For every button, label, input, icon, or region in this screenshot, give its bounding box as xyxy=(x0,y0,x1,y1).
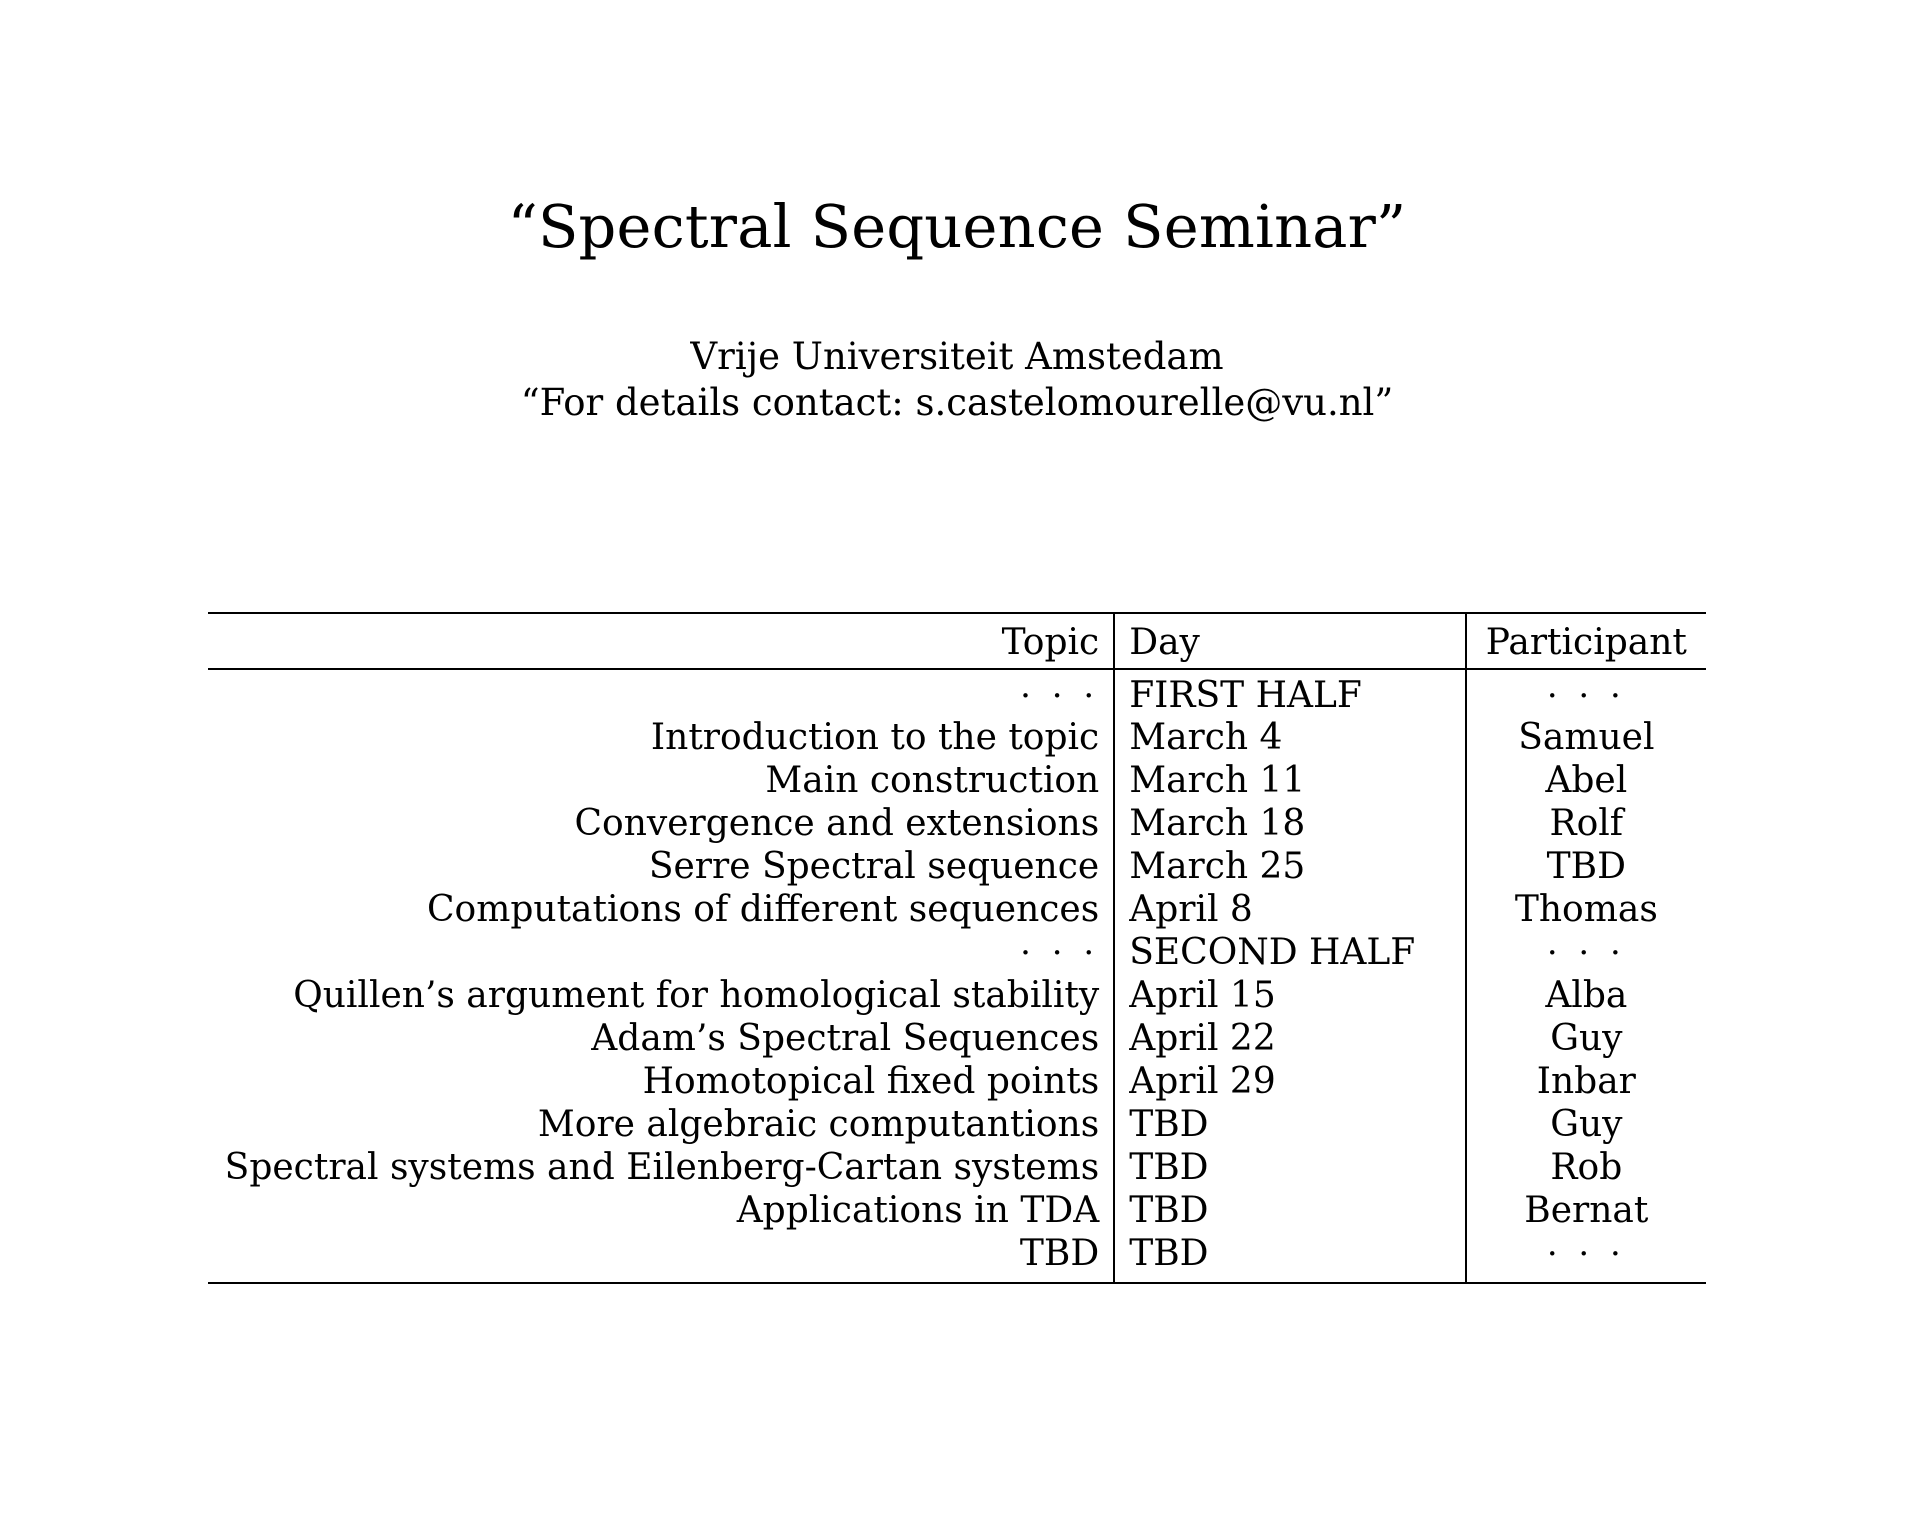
cell-day: TBD xyxy=(1114,1104,1465,1147)
page-title: “Spectral Sequence Seminar” xyxy=(0,196,1914,258)
cell-participant: Inbar xyxy=(1466,1061,1706,1104)
cell-participant: Abel xyxy=(1466,760,1706,803)
cell-participant: · · · xyxy=(1466,932,1706,975)
column-header-participant: Participant xyxy=(1466,613,1706,669)
column-header-topic: Topic xyxy=(208,613,1114,669)
table-row: Applications in TDATBDBernat xyxy=(208,1190,1706,1233)
cell-topic: Introduction to the topic xyxy=(208,717,1114,760)
cell-topic: More algebraic computantions xyxy=(208,1104,1114,1147)
cell-participant: Rob xyxy=(1466,1147,1706,1190)
cell-topic: Applications in TDA xyxy=(208,1190,1114,1233)
cell-topic: Serre Spectral sequence xyxy=(208,846,1114,889)
cell-day: April 22 xyxy=(1114,1018,1465,1061)
table-row: Homotopical fixed pointsApril 29Inbar xyxy=(208,1061,1706,1104)
title-block: “Spectral Sequence Seminar” xyxy=(0,196,1914,258)
cell-topic: Homotopical fixed points xyxy=(208,1061,1114,1104)
cell-topic: Spectral systems and Eilenberg-Cartan sy… xyxy=(208,1147,1114,1190)
cell-day: TBD xyxy=(1114,1190,1465,1233)
schedule-table: Topic Day Participant · · ·FIRST HALF· ·… xyxy=(208,612,1706,1284)
cell-participant: TBD xyxy=(1466,846,1706,889)
cell-participant: Samuel xyxy=(1466,717,1706,760)
cell-day: TBD xyxy=(1114,1147,1465,1190)
document-page: “Spectral Sequence Seminar” Vrije Univer… xyxy=(0,0,1914,1516)
table-row: Quillen’s argument for homological stabi… xyxy=(208,975,1706,1018)
cell-day: April 8 xyxy=(1114,889,1465,932)
cell-day: March 4 xyxy=(1114,717,1465,760)
cell-topic: · · · xyxy=(208,669,1114,717)
table-section-row: · · ·FIRST HALF· · · xyxy=(208,669,1706,717)
cell-day: March 25 xyxy=(1114,846,1465,889)
cell-topic: · · · xyxy=(208,932,1114,975)
cell-participant: Guy xyxy=(1466,1018,1706,1061)
cell-participant: · · · xyxy=(1466,669,1706,717)
cell-day: April 15 xyxy=(1114,975,1465,1018)
cell-day: March 11 xyxy=(1114,760,1465,803)
cell-day: SECOND HALF xyxy=(1114,932,1465,975)
table-section-row: · · ·SECOND HALF· · · xyxy=(208,932,1706,975)
column-header-day: Day xyxy=(1114,613,1465,669)
schedule-table-wrapper: Topic Day Participant · · ·FIRST HALF· ·… xyxy=(208,612,1706,1284)
affiliation-line: Vrije Universiteit Amstedam xyxy=(0,334,1914,380)
cell-participant: Thomas xyxy=(1466,889,1706,932)
table-header-row: Topic Day Participant xyxy=(208,613,1706,669)
cell-topic: Convergence and extensions xyxy=(208,803,1114,846)
table-row: Convergence and extensionsMarch 18Rolf xyxy=(208,803,1706,846)
table-row: Spectral systems and Eilenberg-Cartan sy… xyxy=(208,1147,1706,1190)
cell-participant: Guy xyxy=(1466,1104,1706,1147)
cell-day: March 18 xyxy=(1114,803,1465,846)
table-row: TBDTBD· · · xyxy=(208,1233,1706,1283)
table-header: Topic Day Participant xyxy=(208,613,1706,669)
cell-participant: Rolf xyxy=(1466,803,1706,846)
table-row: Introduction to the topicMarch 4Samuel xyxy=(208,717,1706,760)
cell-topic: Main construction xyxy=(208,760,1114,803)
cell-participant: · · · xyxy=(1466,1233,1706,1283)
cell-topic: Quillen’s argument for homological stabi… xyxy=(208,975,1114,1018)
cell-topic: Adam’s Spectral Sequences xyxy=(208,1018,1114,1061)
cell-topic: TBD xyxy=(208,1233,1114,1283)
table-row: Computations of diﬀerent sequencesApril … xyxy=(208,889,1706,932)
table-row: More algebraic computantionsTBDGuy xyxy=(208,1104,1706,1147)
table-row: Serre Spectral sequenceMarch 25TBD xyxy=(208,846,1706,889)
contact-line: “For details contact: s.castelomourelle@… xyxy=(0,380,1914,426)
table-row: Main constructionMarch 11Abel xyxy=(208,760,1706,803)
subtitle-block: Vrije Universiteit Amstedam “For details… xyxy=(0,334,1914,425)
cell-day: April 29 xyxy=(1114,1061,1465,1104)
cell-topic: Computations of diﬀerent sequences xyxy=(208,889,1114,932)
table-row: Adam’s Spectral SequencesApril 22Guy xyxy=(208,1018,1706,1061)
table-body: · · ·FIRST HALF· · ·Introduction to the … xyxy=(208,669,1706,1283)
cell-participant: Bernat xyxy=(1466,1190,1706,1233)
cell-day: FIRST HALF xyxy=(1114,669,1465,717)
cell-day: TBD xyxy=(1114,1233,1465,1283)
cell-participant: Alba xyxy=(1466,975,1706,1018)
